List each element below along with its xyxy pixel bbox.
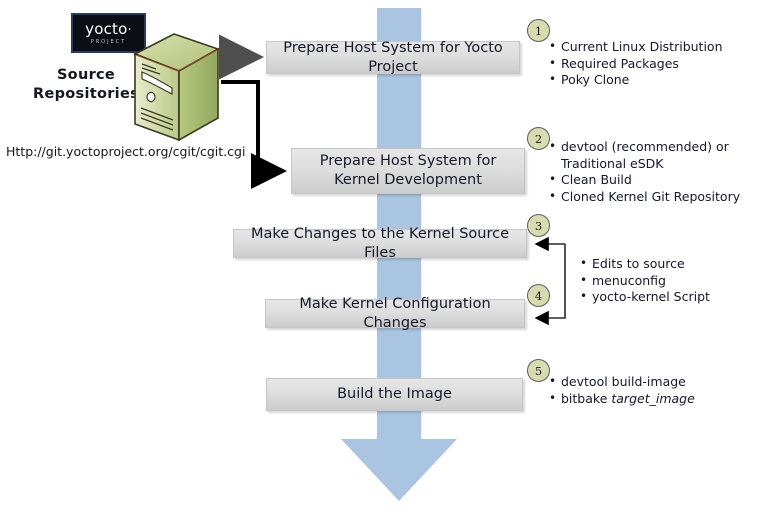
step-box-3-label: Make Changes to the Kernel Source Files <box>242 225 518 263</box>
source-repositories-label-line2: Repositories <box>27 85 145 104</box>
step-box-3[interactable]: Make Changes to the Kernel Source Files <box>233 229 527 258</box>
step-number-badge-3: 3 <box>527 214 550 237</box>
step-box-1-label: Prepare Host System for Yocto Project <box>275 39 511 77</box>
source-repositories-label: Source Repositories <box>27 66 145 104</box>
list-item: Clean Build <box>549 172 754 189</box>
step-2-bullet-list: devtool (recommended) or Traditional eSD… <box>549 139 754 205</box>
list-item: yocto-kernel Script <box>580 289 760 306</box>
step-5-bullet-list: devtool build-image bitbake target_image <box>549 374 754 407</box>
step-box-4[interactable]: Make Kernel Configuration Changes <box>265 299 525 328</box>
yocto-logo-wordmark: yocto· <box>85 22 132 37</box>
step-number-badge-4: 4 <box>527 284 550 307</box>
yocto-logo-word-text: yocto <box>85 20 127 38</box>
list-item: Poky Clone <box>549 72 764 89</box>
list-item: devtool (recommended) or Traditional eSD… <box>549 139 754 172</box>
step-box-1[interactable]: Prepare Host System for Yocto Project <box>266 41 520 74</box>
step-box-4-label: Make Kernel Configuration Changes <box>274 295 516 333</box>
step-number-badge-1: 1 <box>527 19 550 42</box>
steps-3-4-bullet-list: Edits to source menuconfig yocto-kernel … <box>580 256 760 306</box>
workflow-spine-arrow-head <box>341 439 457 501</box>
diagram-canvas: yocto· PROJECT Source Repositories Http:… <box>0 0 769 517</box>
list-item: bitbake target_image <box>549 391 754 408</box>
bitbake-command-text: bitbake <box>561 391 611 406</box>
list-item: Edits to source <box>580 256 760 273</box>
list-item: Current Linux Distribution <box>549 39 764 56</box>
step-box-2[interactable]: Prepare Host System for Kernel Developme… <box>291 148 525 194</box>
step-box-2-label: Prepare Host System for Kernel Developme… <box>300 152 516 190</box>
step-1-bullet-list: Current Linux Distribution Required Pack… <box>549 39 764 89</box>
step-number-badge-2: 2 <box>527 127 550 150</box>
list-item: menuconfig <box>580 273 760 290</box>
step-box-5-label: Build the Image <box>337 385 452 404</box>
step-box-5[interactable]: Build the Image <box>266 378 523 411</box>
list-item: Cloned Kernel Git Repository <box>549 189 754 206</box>
list-item: devtool build-image <box>549 374 754 391</box>
server-tower-icon <box>130 32 222 148</box>
bitbake-target-image-arg: target_image <box>611 391 694 406</box>
list-item: Required Packages <box>549 56 764 73</box>
yocto-logo-subtext: PROJECT <box>91 40 127 45</box>
source-repositories-label-line1: Source <box>27 66 145 85</box>
step-number-badge-5: 5 <box>527 359 550 382</box>
